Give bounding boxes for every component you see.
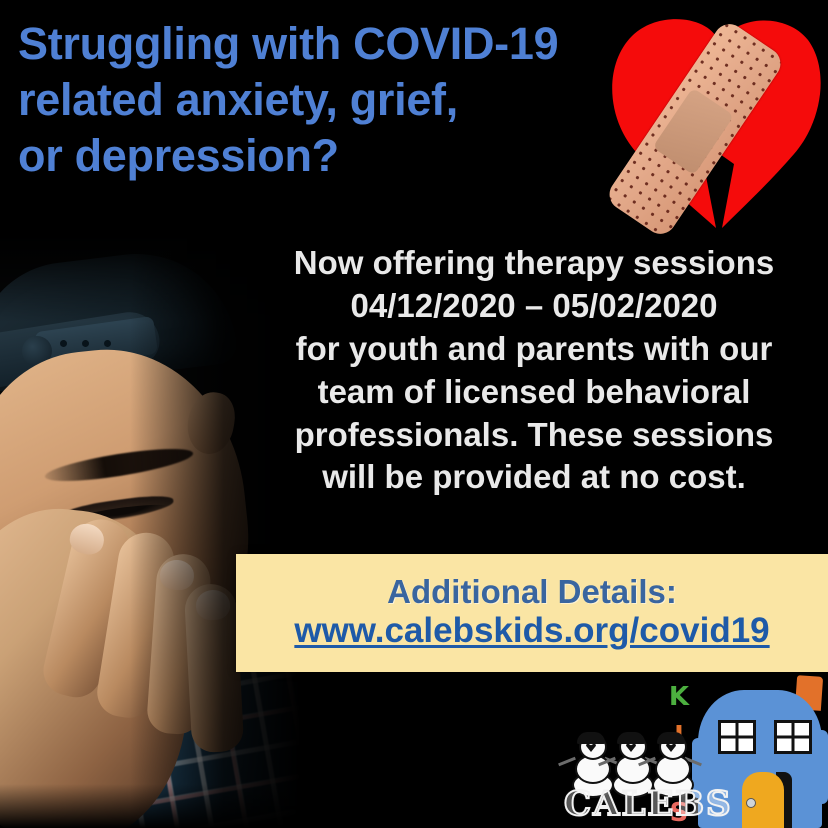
cta-title: Additional Details: (387, 575, 677, 610)
figure-hair (617, 732, 645, 744)
figure-hair (657, 732, 685, 744)
poster-canvas: Struggling with COVID-19 related anxiety… (0, 0, 828, 828)
additional-details-box: Additional Details: www.calebskids.org/c… (236, 554, 828, 672)
figure-hair (577, 732, 605, 744)
figure-arm (558, 757, 576, 767)
window-icon (718, 720, 756, 754)
window-icon (774, 720, 812, 754)
doorknob-icon (746, 798, 756, 808)
website-link[interactable]: www.calebskids.org/covid19 (294, 610, 769, 651)
photo-fade-bottom (0, 784, 300, 828)
calebs-kids-logo[interactable]: K I D S (556, 672, 828, 828)
body-text: Now offering therapy sessions 04/12/2020… (244, 242, 824, 499)
caleb-wordmark: CALEBS (564, 784, 733, 824)
kids-letter-k: K (669, 686, 689, 710)
page-title: Struggling with COVID-19 related anxiety… (18, 16, 678, 183)
